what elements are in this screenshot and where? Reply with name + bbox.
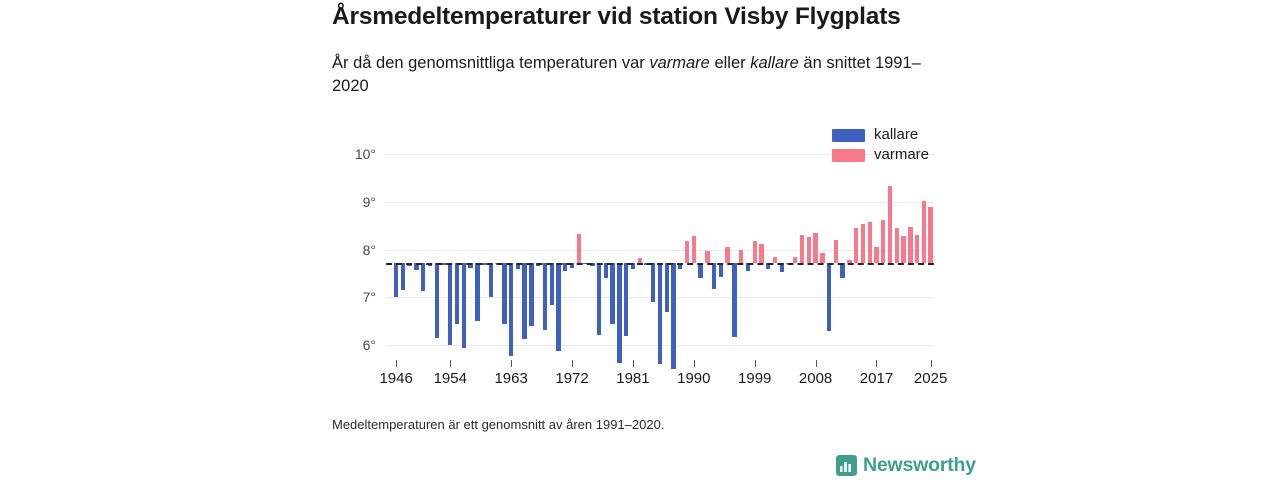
legend-swatch-varmare (832, 149, 865, 162)
x-axis-tick-mark (816, 360, 817, 367)
legend-label-varmare: varmare (874, 147, 929, 163)
bar-1978[interactable] (610, 263, 614, 324)
bar-1970[interactable] (556, 263, 560, 351)
bar-1990[interactable] (692, 236, 696, 263)
bar-2009[interactable] (820, 253, 824, 263)
y-axis-tick-label: 7° (316, 289, 376, 305)
bar-1952[interactable] (435, 263, 439, 338)
chart-legend: kallarevarmare (832, 127, 929, 163)
y-axis-tick-label: 10° (316, 146, 376, 162)
x-axis-tick-label: 1954 (434, 370, 467, 387)
x-axis-tick-mark (396, 360, 397, 367)
bar-1996[interactable] (732, 263, 736, 337)
x-axis-tick-label: 1946 (379, 370, 412, 387)
bar-2018[interactable] (881, 220, 885, 262)
bar-2022[interactable] (908, 227, 912, 263)
bar-1995[interactable] (725, 247, 729, 263)
bar-2008[interactable] (813, 233, 817, 263)
bar-1956[interactable] (462, 263, 466, 348)
x-axis-tick-label: 1999 (738, 370, 771, 387)
bar-2025[interactable] (928, 207, 932, 262)
bar-2006[interactable] (800, 235, 804, 263)
bar-1977[interactable] (604, 263, 608, 278)
bar-2011[interactable] (834, 240, 838, 263)
bar-2021[interactable] (901, 236, 905, 263)
newsworthy-wordmark: Newsworthy (863, 454, 976, 477)
bar-2017[interactable] (874, 247, 878, 263)
gridline-8 (386, 250, 934, 251)
x-axis-tick-label: 1972 (555, 370, 588, 387)
bar-1994[interactable] (719, 263, 723, 277)
newsworthy-logo[interactable]: Newsworthy (836, 454, 976, 477)
bar-2023[interactable] (915, 235, 919, 263)
legend-swatch-kallare (832, 129, 865, 142)
x-axis-tick-mark (511, 360, 512, 367)
bar-1973[interactable] (577, 234, 581, 263)
bar-1963[interactable] (509, 263, 513, 357)
gridline-9 (386, 202, 934, 203)
bar-1985[interactable] (658, 263, 662, 364)
bar-2007[interactable] (807, 237, 811, 263)
bar-1960[interactable] (489, 263, 493, 297)
bar-2019[interactable] (888, 186, 892, 263)
chart-footnote: Medeltemperaturen är ett genomsnitt av å… (332, 417, 664, 432)
x-axis-tick-mark (572, 360, 573, 367)
bar-2010[interactable] (827, 263, 831, 331)
bar-2014[interactable] (854, 228, 858, 262)
bar-1987[interactable] (671, 263, 675, 369)
y-axis-tick-label: 9° (316, 194, 376, 210)
x-axis-tick-label: 1990 (677, 370, 710, 387)
x-axis-tick-label: 1963 (494, 370, 527, 387)
legend-item-varmare[interactable]: varmare (832, 147, 929, 163)
bar-2000[interactable] (759, 244, 763, 263)
x-axis-tick-mark (755, 360, 756, 367)
bar-1965[interactable] (522, 263, 526, 339)
x-axis-tick-mark (450, 360, 451, 367)
bar-2015[interactable] (861, 224, 865, 263)
x-axis-tick-mark (633, 360, 634, 367)
bar-1962[interactable] (502, 263, 506, 324)
plot-wrapper: 6°7°8°9°10° 1946195419631972198119901999… (0, 0, 1280, 480)
x-axis-tick-mark (931, 360, 932, 367)
x-axis-tick-label: 2025 (914, 370, 947, 387)
bar-1947[interactable] (401, 263, 405, 290)
x-axis-tick-label: 1981 (616, 370, 649, 387)
legend-item-kallare[interactable]: kallare (832, 127, 929, 143)
y-axis-tick-label: 6° (316, 337, 376, 353)
x-axis-tick-mark (876, 360, 877, 367)
bar-2024[interactable] (922, 201, 926, 263)
bar-1946[interactable] (394, 263, 398, 297)
y-axis-tick-label: 8° (316, 242, 376, 258)
bar-1955[interactable] (455, 263, 459, 324)
bar-1968[interactable] (543, 263, 547, 330)
bar-1976[interactable] (597, 263, 601, 336)
x-axis-tick-label: 2017 (860, 370, 893, 387)
chart-card: Årsmedeltemperaturer vid station Visby F… (0, 0, 1280, 480)
x-axis-tick-mark (694, 360, 695, 367)
bar-1997[interactable] (739, 250, 743, 263)
bar-chart-icon (836, 455, 857, 476)
bar-2016[interactable] (868, 222, 872, 263)
bar-1989[interactable] (685, 241, 689, 263)
bar-1993[interactable] (712, 263, 716, 289)
bar-1980[interactable] (624, 263, 628, 337)
bar-1991[interactable] (698, 263, 702, 278)
legend-label-kallare: kallare (874, 127, 918, 143)
bar-1958[interactable] (475, 263, 479, 321)
bar-1969[interactable] (550, 263, 554, 305)
bar-1954[interactable] (448, 263, 452, 345)
bar-1999[interactable] (753, 241, 757, 262)
bar-1986[interactable] (665, 263, 669, 312)
bar-2012[interactable] (840, 263, 844, 278)
bar-1966[interactable] (529, 263, 533, 326)
x-axis: 1946195419631972198119901999200820172025 (386, 360, 934, 390)
plot-area (386, 150, 934, 350)
bar-2020[interactable] (895, 228, 899, 262)
baseline-average-line (386, 263, 934, 265)
bar-1992[interactable] (705, 251, 709, 262)
bar-1950[interactable] (421, 263, 425, 291)
x-axis-tick-label: 2008 (799, 370, 832, 387)
bar-1984[interactable] (651, 263, 655, 302)
bar-1979[interactable] (617, 263, 621, 363)
